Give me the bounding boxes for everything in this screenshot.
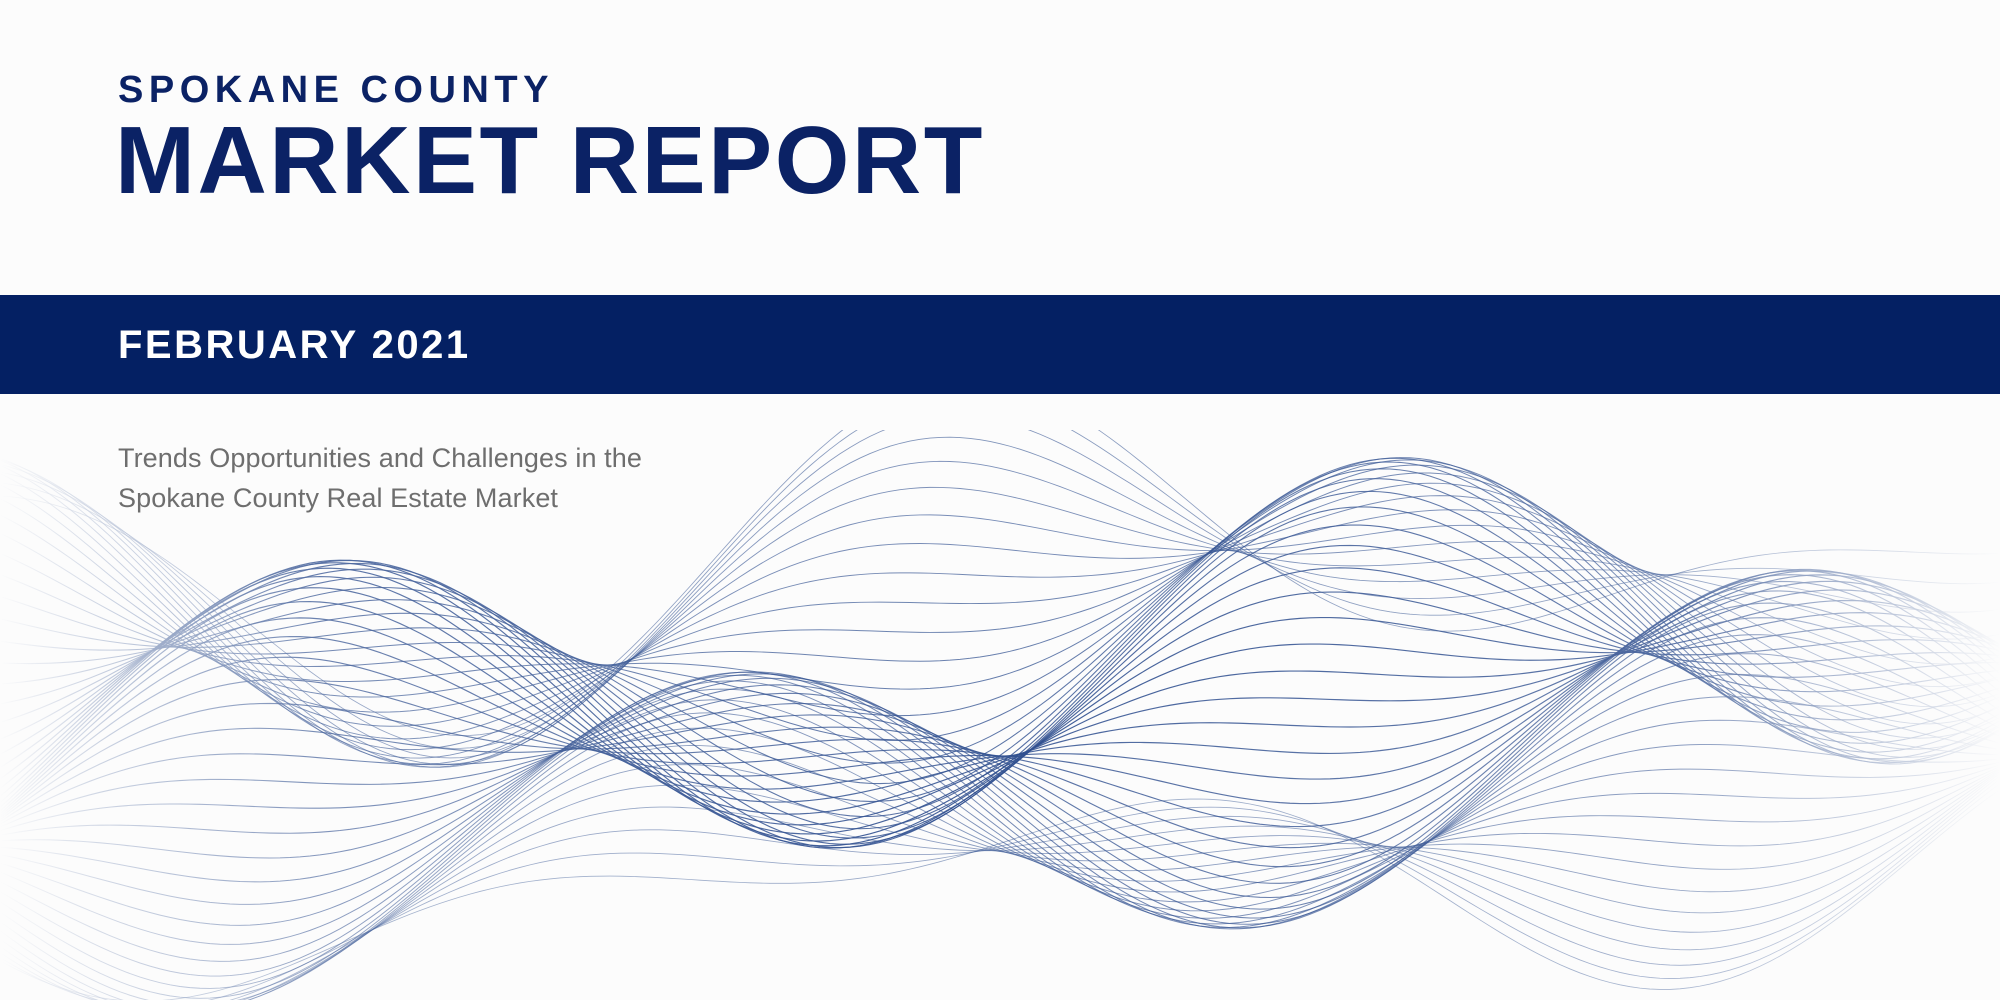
wave-curve (0, 745, 2000, 1000)
wave-curve (0, 560, 2000, 848)
wave-curve (0, 635, 2000, 918)
wave-curve (0, 674, 2000, 928)
wave-curve (0, 545, 2000, 844)
wave-curve (0, 569, 2000, 814)
wave-curve (0, 713, 2000, 989)
wave-curve (0, 581, 2000, 866)
wave-curve (0, 581, 2000, 814)
wave-curve (0, 654, 2000, 925)
wave-curve (0, 675, 2000, 925)
wave-curve (0, 571, 2000, 811)
wave-curve (0, 700, 2000, 976)
wave-curve (0, 483, 2000, 749)
wave-curve (0, 507, 2000, 829)
wave-curve (0, 577, 2000, 825)
wave-curve (0, 560, 2000, 846)
wave-curve (0, 525, 2000, 838)
subtitle-line-1: Trends Opportunities and Challenges in t… (118, 438, 642, 478)
wave-curve (0, 575, 2000, 848)
wave-curve (0, 479, 2000, 802)
wave-curve (0, 672, 2000, 927)
subtitle-line-2: Spokane County Real Estate Market (118, 478, 642, 518)
date-banner: FEBRUARY 2021 (0, 295, 2000, 394)
wave-curve (0, 618, 2000, 909)
wave-curve (0, 765, 2000, 1000)
wave-curve (0, 784, 2000, 1000)
subtitle: Trends Opportunities and Challenges in t… (118, 438, 642, 518)
wave-curve (0, 591, 2000, 883)
wave-curve (0, 779, 2000, 1000)
page-title: MARKET REPORT (115, 113, 985, 209)
wave-curve (0, 603, 2000, 897)
wave-curve (0, 789, 2000, 1000)
wave-curve (0, 681, 2000, 945)
wave-curve (0, 568, 2000, 834)
wave-curve (0, 575, 2000, 808)
page-eyebrow: SPOKANE COUNTY (118, 71, 554, 109)
wave-curve (0, 672, 2000, 929)
wave-curve (0, 689, 2000, 961)
market-report-cover: SPOKANE COUNTY MARKET REPORT FEBRUARY 20… (0, 0, 2000, 1000)
wave-curve (0, 728, 2000, 998)
wave-curve (0, 773, 2000, 1000)
wave-curve (0, 563, 2000, 841)
wave-curve (0, 491, 2000, 816)
wave-curve (0, 571, 2000, 827)
date-banner-label: FEBRUARY 2021 (118, 325, 471, 365)
wave-curve (0, 564, 2000, 848)
wave-curve (0, 776, 2000, 1000)
